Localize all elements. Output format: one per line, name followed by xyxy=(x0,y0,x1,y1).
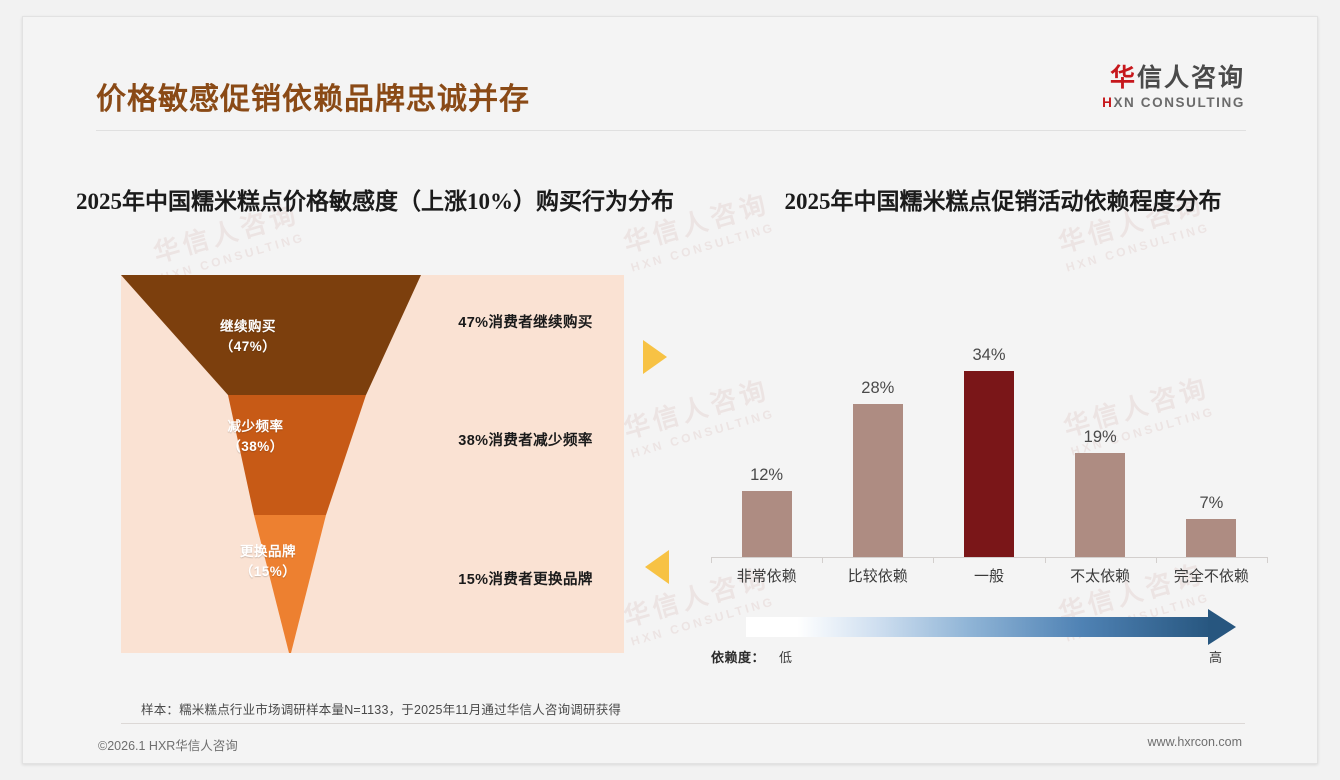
bar-value-label: 34% xyxy=(933,346,1044,365)
sample-note: 样本：糯米糕点行业市场调研样本量N=1133，于2025年11月通过华信人咨询调… xyxy=(141,699,621,718)
bar xyxy=(1075,453,1125,557)
bar xyxy=(1186,519,1236,557)
logo-en-h: H xyxy=(1102,95,1113,110)
footer-copyright: ©2026.1 HXR华信人咨询 xyxy=(98,735,238,754)
logo-char-hua: 华 xyxy=(1110,64,1137,92)
bar-category-label: 一般 xyxy=(933,565,1044,586)
bar-axis-line xyxy=(711,557,1267,558)
footer-website: www.hxrcon.com xyxy=(1148,735,1242,749)
legend-title: 依赖度： xyxy=(711,647,765,666)
bar-column: 7% xyxy=(1156,307,1267,557)
axis-tick xyxy=(1156,557,1157,563)
axis-tick xyxy=(1267,557,1268,563)
funnel-label-2: 更换品牌（15%） xyxy=(213,542,323,581)
brand-logo: 华信人咨询 HXN CONSULTING xyxy=(1102,65,1245,110)
logo-chinese: 华信人咨询 xyxy=(1102,65,1245,92)
left-chart-title: 2025年中国糯米糕点价格敏感度（上涨10%）购买行为分布 xyxy=(65,187,685,217)
funnel-side-label-2: 15%消费者更换品牌 xyxy=(418,568,633,589)
bar-category-label: 非常依赖 xyxy=(711,565,822,586)
logo-en-rest: XN CONSULTING xyxy=(1113,95,1245,110)
funnel-label-0: 继续购买（47%） xyxy=(173,317,323,356)
axis-tick xyxy=(933,557,934,563)
funnel-segment-switch xyxy=(254,515,326,653)
bar-category-label: 比较依赖 xyxy=(822,565,933,586)
bar-value-label: 7% xyxy=(1156,494,1267,513)
funnel-label-1: 减少频率（38%） xyxy=(188,417,323,456)
slide-card: 华信人咨询HXN CONSULTING 华信人咨询HXN CONSULTING … xyxy=(22,16,1318,764)
bar-value-label: 12% xyxy=(711,466,822,485)
bar-category-label: 完全不依赖 xyxy=(1156,565,1267,586)
bar-column: 28% xyxy=(822,307,933,557)
play-triangle-right-icon xyxy=(643,340,667,374)
bar-column: 19% xyxy=(1045,307,1156,557)
bar xyxy=(853,404,903,557)
bar-value-label: 19% xyxy=(1045,428,1156,447)
bar-category-label: 不太依赖 xyxy=(1045,565,1156,586)
bar xyxy=(742,491,792,557)
play-triangle-left-icon xyxy=(645,550,669,584)
slide-header: 价格敏感促销依赖品牌忠诚并存 华信人咨询 HXN CONSULTING xyxy=(23,17,1317,135)
funnel-side-label-0: 47%消费者继续购买 xyxy=(418,311,633,332)
gradient-bar xyxy=(746,617,1212,637)
axis-tick xyxy=(1045,557,1046,563)
bar-chart: 12%28%34%19%7% xyxy=(711,307,1267,557)
logo-chars-rest: 信人咨询 xyxy=(1137,64,1245,92)
page-title: 价格敏感促销依赖品牌忠诚并存 xyxy=(96,74,530,118)
legend-low-label: 低 xyxy=(779,647,792,666)
bar-value-label: 28% xyxy=(822,379,933,398)
axis-tick xyxy=(711,557,712,563)
logo-english: HXN CONSULTING xyxy=(1102,95,1245,110)
bar-column: 34% xyxy=(933,307,1044,557)
legend-high-label: 高 xyxy=(1209,647,1222,666)
funnel-side-label-1: 38%消费者减少频率 xyxy=(418,429,633,450)
dependency-gradient-legend: 依赖度： 低 高 xyxy=(711,613,1267,673)
bar-highlighted xyxy=(964,371,1014,557)
arrow-head-icon xyxy=(1208,609,1236,645)
bar-column: 12% xyxy=(711,307,822,557)
axis-tick xyxy=(822,557,823,563)
slide-root: 华信人咨询HXN CONSULTING 华信人咨询HXN CONSULTING … xyxy=(0,0,1340,780)
header-divider xyxy=(96,130,1246,131)
footer-divider xyxy=(121,723,1245,724)
right-chart-title: 2025年中国糯米糕点促销活动依赖程度分布 xyxy=(713,187,1293,217)
